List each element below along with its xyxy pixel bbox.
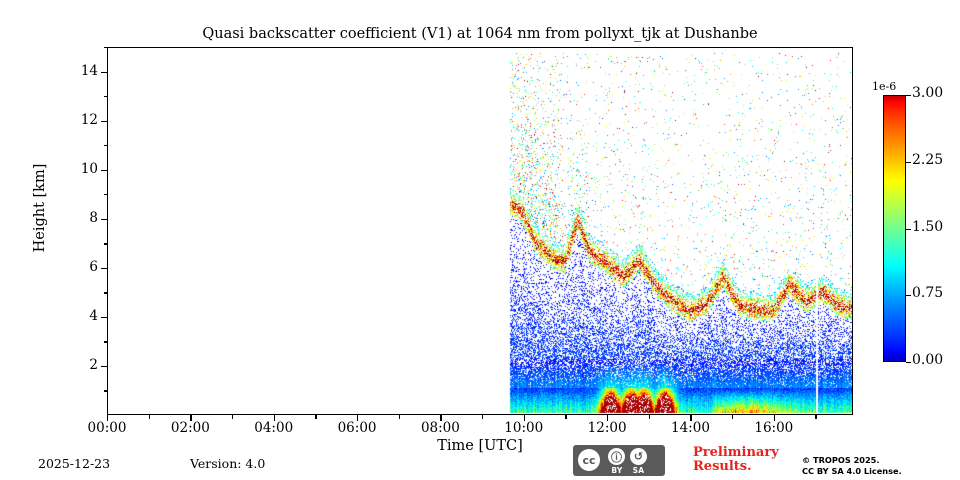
cc-logo-icon: cc bbox=[578, 449, 600, 471]
colorbar-tick-label: 3.00 bbox=[912, 85, 943, 101]
x-tick-minor bbox=[482, 415, 483, 419]
x-tick-minor bbox=[315, 415, 316, 419]
preliminary-line-2: Results. bbox=[693, 460, 793, 474]
colorbar-tick-label: 2.25 bbox=[912, 152, 943, 168]
y-tick-label: 2 bbox=[58, 357, 98, 373]
x-tick-label: 04:00 bbox=[239, 420, 309, 436]
y-tick-minor bbox=[104, 145, 108, 146]
x-tick-minor bbox=[649, 415, 650, 419]
footer-date: 2025-12-23 bbox=[38, 456, 110, 471]
cc-by-icon: ⓘ bbox=[608, 448, 625, 465]
y-tick-minor bbox=[104, 96, 108, 97]
y-tick-minor bbox=[104, 292, 108, 293]
colorbar-tick-label: 1.50 bbox=[912, 219, 943, 235]
x-tick-minor bbox=[565, 415, 566, 419]
y-tick-major bbox=[101, 72, 107, 73]
y-tick-label: 8 bbox=[58, 210, 98, 226]
x-tick-label: 16:00 bbox=[739, 420, 809, 436]
x-tick-minor bbox=[149, 415, 150, 419]
x-tick-label: 02:00 bbox=[155, 420, 225, 436]
y-tick-label: 12 bbox=[58, 112, 98, 128]
lidar-quasi-backscatter-figure: Quasi backscatter coefficient (V1) at 10… bbox=[0, 0, 960, 480]
x-tick-minor bbox=[732, 415, 733, 419]
y-tick-minor bbox=[104, 341, 108, 342]
colorbar-tick-label: 0.00 bbox=[912, 352, 943, 368]
x-tick-label: 00:00 bbox=[72, 420, 142, 436]
y-tick-minor bbox=[104, 194, 108, 195]
preliminary-results-notice: Preliminary Results. bbox=[693, 446, 793, 474]
preliminary-line-1: Preliminary bbox=[693, 446, 793, 460]
cc-sa-icon: ↺ bbox=[630, 448, 647, 465]
y-tick-major bbox=[101, 121, 107, 122]
colorbar-exponent-label: 1e-6 bbox=[872, 80, 896, 93]
copyright-notice: © TROPOS 2025. CC BY SA 4.0 License. bbox=[802, 455, 902, 476]
x-tick-label: 14:00 bbox=[655, 420, 725, 436]
page-title: Quasi backscatter coefficient (V1) at 10… bbox=[107, 26, 853, 42]
cc-by-label: BY bbox=[608, 466, 626, 475]
colorbar-tick bbox=[906, 229, 911, 230]
colorbar[interactable] bbox=[883, 95, 906, 362]
y-tick-label: 14 bbox=[58, 63, 98, 79]
copyright-line-1: © TROPOS 2025. bbox=[802, 455, 902, 466]
y-tick-label: 6 bbox=[58, 259, 98, 275]
colorbar-gradient bbox=[883, 95, 906, 362]
y-tick-minor bbox=[104, 47, 108, 48]
creative-commons-badge-icon[interactable]: cc ⓘ ↺ BY SA bbox=[573, 445, 665, 476]
x-tick-minor bbox=[815, 415, 816, 419]
colorbar-tick bbox=[906, 95, 911, 96]
x-tick-label: 10:00 bbox=[489, 420, 559, 436]
y-tick-major bbox=[101, 219, 107, 220]
copyright-line-2: CC BY SA 4.0 License. bbox=[802, 466, 902, 477]
y-tick-label: 10 bbox=[58, 161, 98, 177]
x-tick-label: 08:00 bbox=[405, 420, 475, 436]
footer-version: Version: 4.0 bbox=[190, 456, 265, 471]
y-tick-major bbox=[101, 268, 107, 269]
y-tick-label: 4 bbox=[58, 308, 98, 324]
colorbar-tick bbox=[906, 162, 911, 163]
colorbar-tick bbox=[906, 295, 911, 296]
plot-area[interactable] bbox=[107, 47, 853, 415]
colorbar-tick-label: 0.75 bbox=[912, 285, 943, 301]
x-tick-minor bbox=[232, 415, 233, 419]
x-tick-minor bbox=[399, 415, 400, 419]
cc-sa-label: SA bbox=[629, 466, 648, 475]
y-tick-minor bbox=[104, 390, 108, 391]
y-tick-major bbox=[101, 366, 107, 367]
y-tick-minor bbox=[104, 243, 108, 244]
x-tick-label: 12:00 bbox=[572, 420, 642, 436]
colorbar-tick bbox=[906, 362, 911, 363]
y-tick-major bbox=[101, 317, 107, 318]
heatmap-canvas bbox=[108, 48, 852, 414]
y-axis-title: Height [km] bbox=[32, 128, 48, 288]
y-tick-major bbox=[101, 170, 107, 171]
x-tick-label: 06:00 bbox=[322, 420, 392, 436]
